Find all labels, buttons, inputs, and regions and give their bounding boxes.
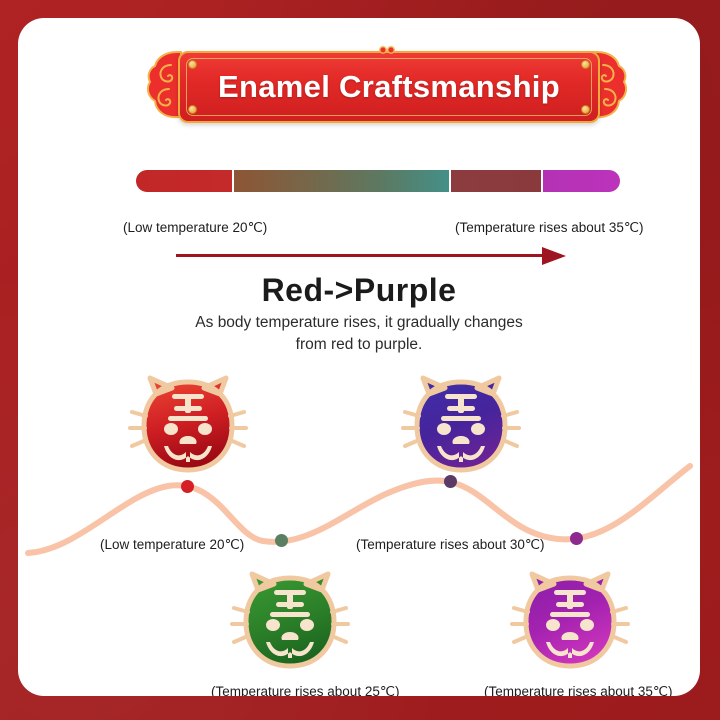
gradient-high-temp-label: (Temperature rises about 35℃) (455, 220, 644, 236)
tiger-pin-red[interactable] (128, 370, 248, 482)
plaque-stud-top-left (188, 60, 197, 69)
wave-label-20c: (Low temperature 20℃) (100, 537, 244, 553)
gradient-low-temp-label: (Low temperature 20℃) (123, 220, 267, 236)
temperature-arrow-head-icon (542, 247, 566, 265)
temperature-arrow-line (176, 254, 548, 257)
plaque-stud-bottom-right (581, 105, 590, 114)
temperature-gradient-bar (136, 170, 620, 192)
product-info-card: Enamel Craftsmanship (Low temperature 20… (18, 18, 700, 696)
wave-dot-35c (570, 532, 583, 545)
wave-label-35c: (Temperature rises about 35℃) (484, 684, 673, 696)
description-line-2: from red to purple. (18, 334, 700, 356)
tiger-pin-blue-purple[interactable] (401, 370, 521, 482)
gradient-segment-brown-teal (234, 170, 449, 192)
gradient-segment-maroon (451, 170, 541, 192)
plaque-top-bead-ornament (376, 44, 398, 54)
temperature-wave-curve (18, 438, 700, 578)
color-change-description: As body temperature rises, it gradually … (18, 312, 700, 356)
wave-dot-25c (275, 534, 288, 547)
wave-label-30c: (Temperature rises about 30℃) (356, 537, 545, 553)
plaque-stud-top-right (581, 60, 590, 69)
title-plaque: Enamel Craftsmanship (147, 47, 627, 123)
gradient-segment-red (136, 170, 232, 192)
title-plaque-body: Enamel Craftsmanship (178, 51, 600, 123)
page-title: Enamel Craftsmanship (218, 69, 560, 105)
tiger-pin-green[interactable] (230, 566, 350, 678)
gradient-segment-magenta (543, 170, 620, 192)
description-line-1: As body temperature rises, it gradually … (18, 312, 700, 334)
plaque-stud-bottom-left (188, 105, 197, 114)
tiger-pin-magenta[interactable] (510, 566, 630, 678)
wave-label-25c: (Temperature rises about 25℃) (211, 684, 400, 696)
color-change-headline: Red->Purple (18, 272, 700, 309)
